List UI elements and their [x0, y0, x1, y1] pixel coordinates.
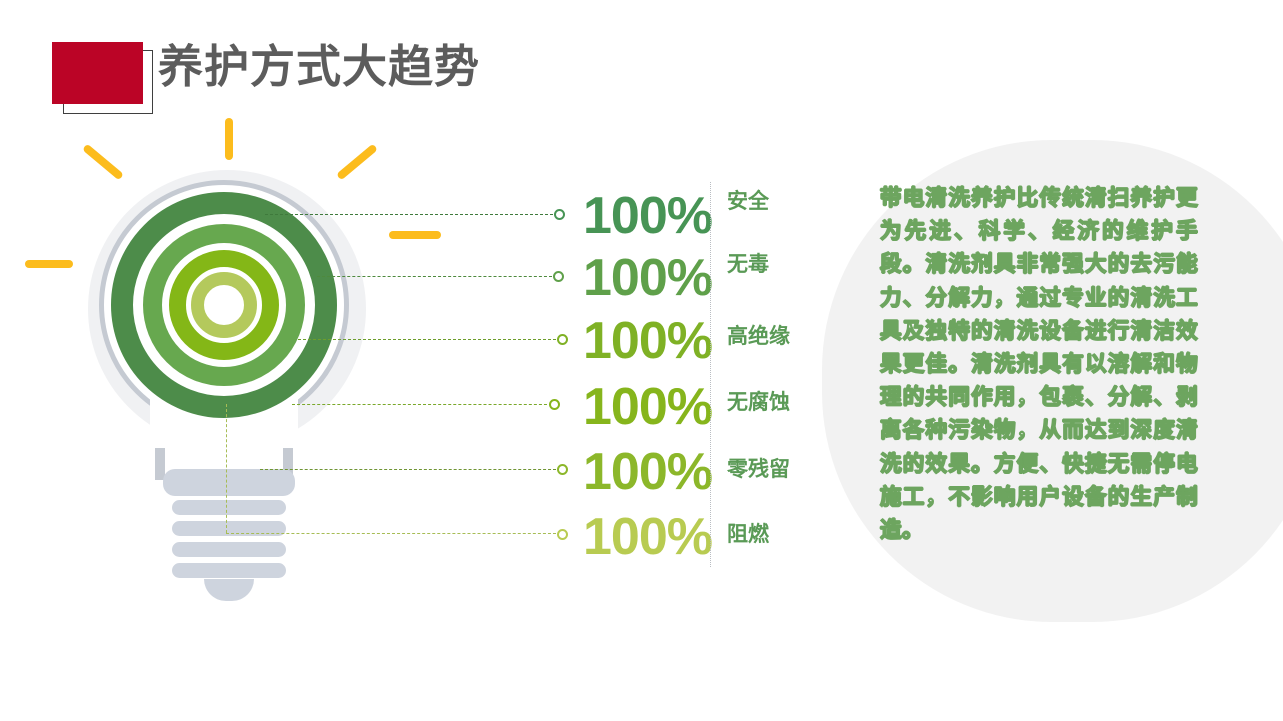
stat-value-5: 100%	[583, 446, 712, 498]
stat-label-3: 高绝缘	[727, 325, 790, 349]
stat-value-3: 100%	[583, 315, 712, 367]
stat-label-1: 安全	[727, 190, 769, 214]
stat-value-2: 100%	[583, 252, 712, 304]
stat-label-2: 无毒	[727, 253, 769, 277]
stat-label-6: 阻燃	[727, 523, 769, 547]
info-panel-body: 带电清洗养护比传统清扫养护更为先进、科学、经济的维护手段。清洗剂具非常强大的去污…	[880, 182, 1198, 547]
stats-list: 100% 安全 100% 无毒 100% 高绝缘 100% 无腐蚀 100% 零…	[0, 0, 820, 721]
stat-label-5: 零残留	[727, 458, 790, 482]
stat-value-1: 100%	[583, 190, 712, 242]
stat-divider	[710, 182, 711, 567]
stat-value-4: 100%	[583, 381, 712, 433]
stat-value-6: 100%	[583, 511, 712, 563]
stat-label-4: 无腐蚀	[727, 391, 790, 415]
